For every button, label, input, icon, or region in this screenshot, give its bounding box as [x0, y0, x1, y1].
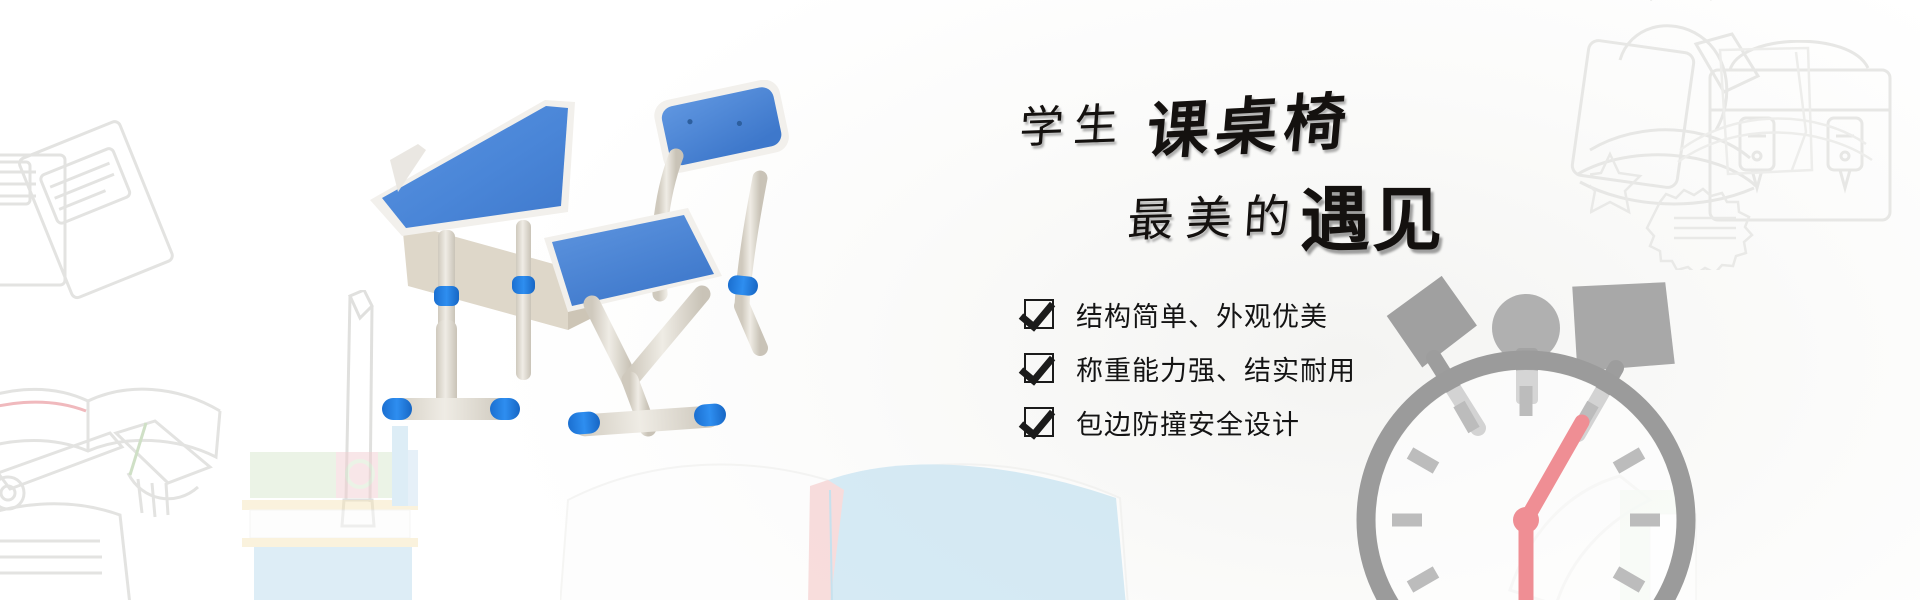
checkbox-check-icon [1024, 407, 1054, 437]
checkbox-check-icon [1024, 353, 1054, 383]
feature-item: 称重能力强、结实耐用 [1024, 344, 1570, 392]
product-image-desk-chair [330, 80, 870, 500]
checkbox-check-icon [1024, 299, 1054, 329]
headline-line-2: 最美的 遇见 [1010, 172, 1570, 264]
feature-item: 结构简单、外观优美 [1024, 290, 1570, 338]
feature-label: 称重能力强、结实耐用 [1076, 349, 1356, 388]
headline-line-1: 学生 课桌椅 [1010, 88, 1570, 166]
feature-item: 包边防撞安全设计 [1024, 398, 1570, 446]
marketing-text-block: 学生 课桌椅 最美的 遇见 结构简单、外观优美 称重能力强、结实耐用 包边防撞安… [1010, 88, 1570, 452]
chair [544, 80, 792, 437]
notebooks-outline-icon [0, 100, 250, 350]
headline-line-2-light: 最美的 [1126, 180, 1304, 251]
feature-label: 结构简单、外观优美 [1076, 295, 1328, 334]
headline-line-1-bold: 课桌椅 [1143, 71, 1356, 172]
headline-line-2-bold: 遇见 [1300, 164, 1444, 265]
promo-banner: 学生 课桌椅 最美的 遇见 结构简单、外观优美 称重能力强、结实耐用 包边防撞安… [0, 0, 1920, 600]
feature-list: 结构简单、外观优美 称重能力强、结实耐用 包边防撞安全设计 [1010, 290, 1570, 446]
open-book-outline-icon [0, 355, 310, 600]
headline-line-1-light: 学生 [1018, 88, 1131, 156]
feature-label: 包边防撞安全设计 [1076, 403, 1300, 442]
